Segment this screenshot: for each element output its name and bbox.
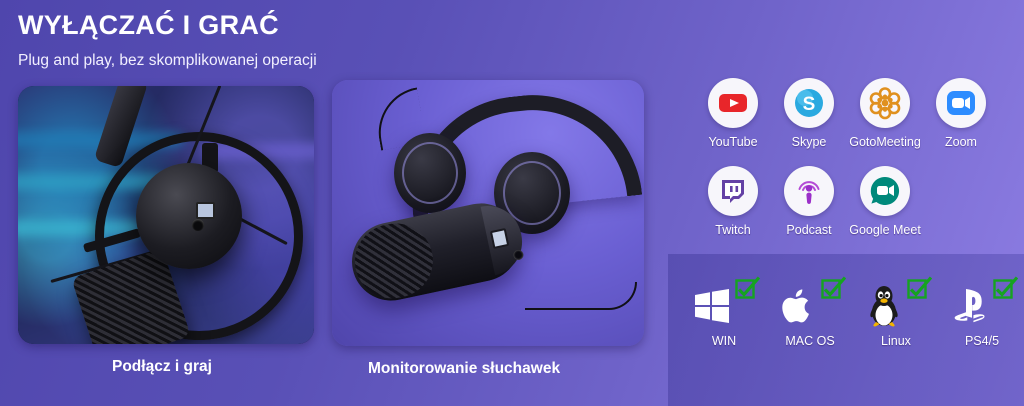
app-label: Google Meet [849, 223, 921, 237]
promo-banner: WYŁĄCZAĆ I GRAĆ Plug and play, bez skomp… [0, 0, 1024, 406]
os-mark [688, 276, 760, 330]
app-label: Skype [792, 135, 827, 149]
os-item-mac-os[interactable]: MAC OS [770, 276, 850, 348]
twitch-icon [708, 166, 758, 216]
apple-icon [776, 284, 820, 328]
skype-icon: S [784, 78, 834, 128]
os-label: MAC OS [785, 334, 834, 348]
app-item-podcast[interactable]: Podcast [778, 166, 840, 237]
os-label: PS4/5 [965, 334, 999, 348]
os-item-win[interactable]: WIN [684, 276, 764, 348]
playstation-icon [948, 284, 992, 328]
caption-headphone-monitoring: Monitorowanie słuchawek [368, 360, 560, 378]
app-row-1: YouTube S Skype [702, 78, 992, 149]
app-item-google-meet[interactable]: Google Meet [854, 166, 916, 237]
app-item-zoom[interactable]: Zoom [930, 78, 992, 149]
app-label: Twitch [715, 223, 750, 237]
os-mark [860, 276, 932, 330]
os-item-ps45[interactable]: PS4/5 [942, 276, 1022, 348]
earcup-ring [402, 142, 458, 204]
os-mark [774, 276, 846, 330]
mic-brand-badge [490, 228, 509, 249]
os-label: WIN [712, 334, 736, 348]
check-icon [820, 276, 846, 302]
check-icon [734, 276, 760, 302]
mic-center-port [192, 219, 204, 231]
google-meet-icon [860, 166, 910, 216]
gotomeeting-icon [860, 78, 910, 128]
audio-cable [525, 282, 637, 310]
os-compatibility-panel: WIN [668, 254, 1024, 406]
podcast-icon [784, 166, 834, 216]
check-icon [906, 276, 932, 302]
app-row-2: Twitch Podcast [702, 166, 916, 237]
caption-plug-and-play: Podłącz i graj [112, 358, 212, 376]
windows-icon [690, 284, 734, 328]
youtube-icon [708, 78, 758, 128]
page-subtitle: Plug and play, bez skomplikowanej operac… [18, 52, 317, 70]
os-row: WIN [684, 276, 1022, 348]
microphone-shockmount-photo [18, 86, 314, 344]
check-icon [992, 276, 1018, 302]
zoom-icon [936, 78, 986, 128]
app-item-skype[interactable]: S Skype [778, 78, 840, 149]
page-title: WYŁĄCZAĆ I GRAĆ [18, 10, 279, 41]
linux-tux-icon [862, 284, 906, 328]
os-item-linux[interactable]: Linux [856, 276, 936, 348]
os-label: Linux [881, 334, 911, 348]
app-label: GotoMeeting [849, 135, 921, 149]
app-label: YouTube [708, 135, 757, 149]
compatible-apps-panel: YouTube S Skype [668, 0, 1024, 254]
app-item-youtube[interactable]: YouTube [702, 78, 764, 149]
mic-brand-badge [196, 202, 215, 219]
app-label: Zoom [945, 135, 977, 149]
app-label: Podcast [786, 223, 831, 237]
os-mark [946, 276, 1018, 330]
app-item-twitch[interactable]: Twitch [702, 166, 764, 237]
svg-text:S: S [803, 94, 816, 115]
headphones-microphone-photo [332, 80, 644, 346]
app-item-gotomeeting[interactable]: GotoMeeting [854, 78, 916, 149]
